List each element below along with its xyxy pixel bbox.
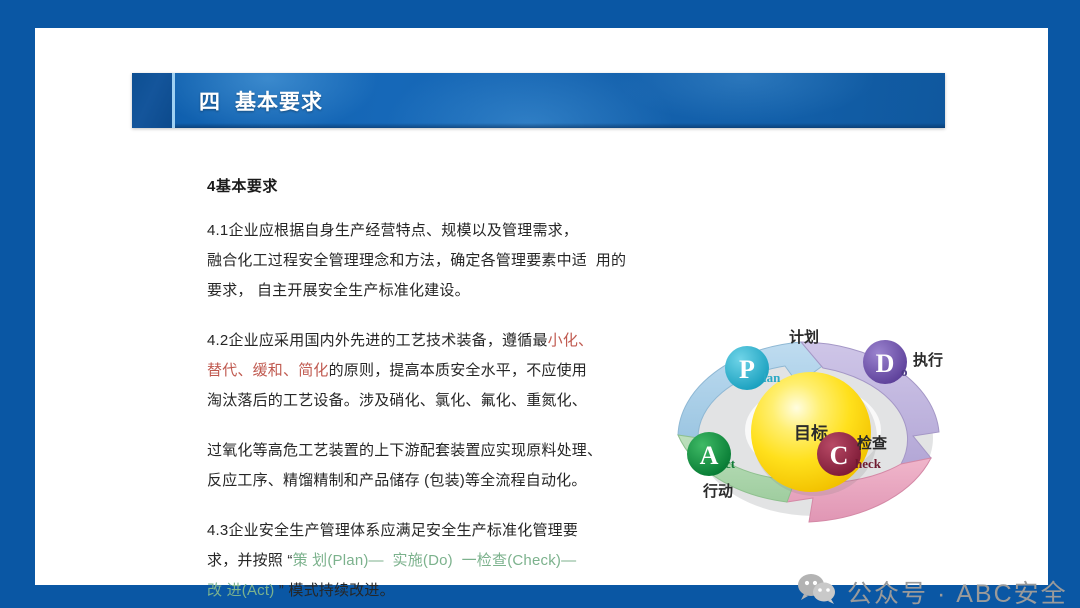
paragraph-line: 改 进(Act) ” 模式持续改进。 — [207, 576, 677, 606]
text-run-red: 替代、缓和、简化 — [207, 362, 329, 379]
banner-accent-block — [132, 73, 172, 128]
pdca-act-tail: ct — [725, 456, 736, 471]
paragraph-line: 反应工序、精馏精制和产品储存 (包装)等全流程自动化。 — [207, 466, 677, 496]
text-run-normal: 4.1企业应根据自身生产经营特点、规模以及管理需求， — [207, 222, 578, 239]
watermark-text: 公众号 · ABC安全 — [847, 574, 1068, 608]
paragraph-p-4-2b: 过氧化等高危工艺装置的上下游配套装置应实现原料处理、反应工序、精馏精制和产品储存… — [207, 436, 677, 496]
text-run-green: 改 进(Act) — [207, 582, 274, 599]
slide-frame: 四 基本要求 4基本要求 4.1企业应根据自身生产经营特点、规模以及管理需求，融… — [0, 0, 1080, 608]
pdca-act-cn: 行动 — [702, 482, 733, 500]
paragraph-p-4-1: 4.1企业应根据自身生产经营特点、规模以及管理需求，融合化工过程安全管理理念和方… — [207, 216, 677, 306]
text-run-green: 策 划(Plan)— 实施(Do) 一检查(Check)— — [293, 552, 577, 569]
text-run-normal: 反应工序、精馏精制和产品储存 (包装)等全流程自动化。 — [207, 472, 587, 489]
paragraph-p-4-3: 4.3企业安全生产管理体系应满足安全生产标准化管理要求，并按照 “策 划(Pla… — [207, 516, 677, 606]
paragraph-line: 过氧化等高危工艺装置的上下游配套装置应实现原料处理、 — [207, 436, 677, 466]
paragraph-line: 融合化工过程安全管理理念和方法，确定各管理要素中适 用的 — [207, 246, 677, 276]
pdca-do-cn: 执行 — [913, 351, 943, 369]
text-run-normal: 求，并按照 “ — [207, 552, 293, 569]
banner-section-number: 四 — [199, 86, 221, 116]
paragraph-line: 4.3企业安全生产管理体系应满足安全生产标准化管理要 — [207, 516, 677, 546]
pdca-check-cn: 检查 — [857, 434, 888, 452]
pdca-plan-letter: P — [739, 355, 755, 384]
pdca-check-tail: heck — [855, 456, 882, 471]
pdca-do-letter: D — [876, 349, 895, 378]
pdca-badge-do: D o 执行 — [863, 340, 943, 384]
pdca-do-tail: o — [901, 364, 908, 379]
text-run-normal: 4.2企业应采用国内外先进的工艺技术装备，遵循最 — [207, 332, 548, 349]
pdca-check-letter: C — [830, 441, 849, 470]
text-run-normal: 过氧化等高危工艺装置的上下游配套装置应实现原料处理、 — [207, 442, 602, 459]
wechat-icon — [797, 573, 837, 608]
paragraph-list: 4.1企业应根据自身生产经营特点、规模以及管理需求，融合化工过程安全管理理念和方… — [207, 216, 677, 606]
pdca-act-letter: A — [700, 441, 719, 470]
text-run-normal: 融合化工过程安全管理理念和方法，确定各管理要素中适 用的 — [207, 252, 626, 269]
slide-canvas: 四 基本要求 4基本要求 4.1企业应根据自身生产经营特点、规模以及管理需求，融… — [35, 28, 1048, 585]
paragraph-p-4-2a: 4.2企业应采用国内外先进的工艺技术装备，遵循最小化、替代、缓和、简化的原则，提… — [207, 326, 677, 416]
banner-body: 四 基本要求 — [175, 73, 945, 128]
pdca-plan-cn: 计划 — [789, 328, 819, 346]
content-heading: 4基本要求 — [207, 175, 677, 196]
pdca-cycle-diagram: 目标 P lan 计划 D o 执行 C — [663, 320, 963, 528]
paragraph-line: 替代、缓和、简化的原则，提高本质安全水平，不应使用 — [207, 356, 677, 386]
text-run-normal: ” 模式持续改进。 — [274, 582, 394, 599]
text-run-normal: 的原则，提高本质安全水平，不应使用 — [329, 362, 587, 379]
paragraph-line: 淘汰落后的工艺设备。涉及硝化、氯化、氟化、重氮化、 — [207, 386, 677, 416]
section-header-banner: 四 基本要求 — [132, 73, 945, 128]
content-text-column: 4基本要求 4.1企业应根据自身生产经营特点、规模以及管理需求，融合化工过程安全… — [207, 175, 677, 608]
watermark: 公众号 · ABC安全 — [797, 573, 1068, 608]
paragraph-line: 4.1企业应根据自身生产经营特点、规模以及管理需求， — [207, 216, 677, 246]
text-run-red: 小化、 — [548, 332, 594, 349]
pdca-plan-tail: lan — [763, 370, 781, 385]
paragraph-line: 4.2企业应采用国内外先进的工艺技术装备，遵循最小化、 — [207, 326, 677, 356]
text-run-normal: 淘汰落后的工艺设备。涉及硝化、氯化、氟化、重氮化、 — [207, 392, 587, 409]
banner-section-title: 基本要求 — [235, 86, 323, 116]
text-run-normal: 要求， 自主开展安全生产标准化建设。 — [207, 282, 470, 299]
paragraph-line: 求，并按照 “策 划(Plan)— 实施(Do) 一检查(Check)— — [207, 546, 677, 576]
paragraph-line: 要求， 自主开展安全生产标准化建设。 — [207, 276, 677, 306]
text-run-normal: 4.3企业安全生产管理体系应满足安全生产标准化管理要 — [207, 522, 578, 539]
